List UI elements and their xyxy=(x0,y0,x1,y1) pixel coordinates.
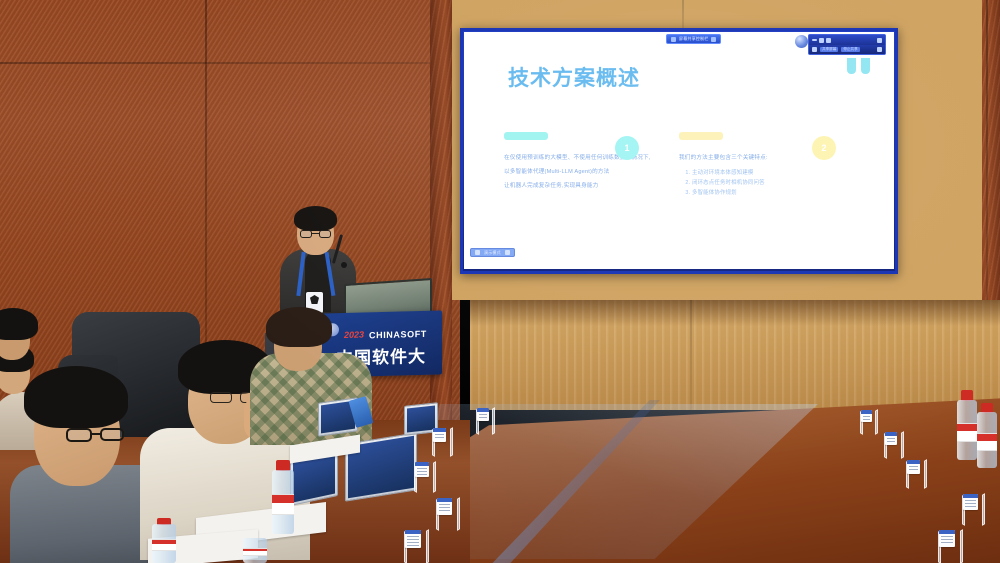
audience-person xyxy=(0,300,40,390)
stop-share-button[interactable]: 停止共享 xyxy=(841,47,859,52)
slide-badge-1: 1 xyxy=(615,136,639,160)
window-controls[interactable] xyxy=(812,38,831,43)
water-bottle xyxy=(243,538,267,563)
wall-shadow-band xyxy=(470,300,1000,326)
name-card-holder xyxy=(938,530,976,563)
quote-mark-decoration xyxy=(847,58,870,74)
glasses-icon xyxy=(66,428,124,442)
bottle-label xyxy=(243,548,267,556)
name-card-holder xyxy=(432,428,464,456)
slide-paragraph: 在仅使用预训练的大模型、不使用任何训练数据的情况下, xyxy=(504,154,679,163)
window-titlebar[interactable] xyxy=(809,35,885,45)
water-bottle xyxy=(957,400,977,460)
floating-window-bar[interactable]: 共享屏幕 停止共享 xyxy=(808,34,886,55)
share-screen-label: 共享屏幕 xyxy=(822,47,836,52)
restore-icon[interactable] xyxy=(826,38,831,43)
name-card-holder xyxy=(476,408,506,434)
badge-logo-icon xyxy=(310,295,319,304)
presentation-slide: 技术方案概述 在仅使用预训练的大模型、不使用任何训练数据的情况下, 以多智能体代… xyxy=(464,32,894,269)
column-tab-accent xyxy=(504,132,548,140)
person-hair xyxy=(266,307,332,347)
water-bottle xyxy=(152,524,176,563)
wall-seam xyxy=(0,62,460,64)
microphone-icon xyxy=(341,262,347,268)
slide-paragraph: 以多智能体代理(Multi-LLM Agent)的方法 xyxy=(504,168,679,177)
bottle-label xyxy=(152,539,176,551)
glasses-icon xyxy=(299,230,332,238)
slide-paragraph: 让机器人完成复杂任务,实现具身能力 xyxy=(504,182,679,191)
stop-share-label: 停止共享 xyxy=(843,47,857,52)
minimize-icon[interactable] xyxy=(812,39,817,41)
name-card-holder xyxy=(414,462,448,492)
list-item: 主动对环境本体感知建模 xyxy=(692,168,854,178)
window-toolbar-row[interactable]: 共享屏幕 停止共享 xyxy=(809,45,885,54)
volume-icon[interactable] xyxy=(877,47,882,52)
chip-icon xyxy=(475,250,480,255)
name-card-holder xyxy=(906,460,938,488)
share-screen-button[interactable]: 共享屏幕 xyxy=(820,47,838,52)
column-tab-accent xyxy=(679,132,723,140)
slide-numbered-list: 主动对环境本体感知建模 闭环态点任务时相机协同问答 多智能体协作规划 xyxy=(692,168,854,198)
presenter-hair xyxy=(294,206,337,231)
chip-label: 演示模式 xyxy=(484,250,501,256)
name-card-holder xyxy=(962,494,998,525)
close-icon[interactable] xyxy=(877,38,882,43)
app-logo-orb xyxy=(795,35,808,48)
presentation-mode-chip[interactable]: 演示模式 xyxy=(470,248,515,257)
wall-display: 技术方案概述 在仅使用预训练的大模型、不使用任何训练数据的情况下, 以多智能体代… xyxy=(460,28,898,274)
list-item: 闭环态点任务时相机协同问答 xyxy=(692,178,854,188)
screen-share-toolbar[interactable]: 屏幕共享控制栏 xyxy=(666,34,721,44)
bottle-label xyxy=(272,494,294,514)
wall-seam xyxy=(690,300,692,410)
screenshot-scene: 技术方案概述 在仅使用预训练的大模型、不使用任何训练数据的情况下, 以多智能体代… xyxy=(0,0,1000,563)
name-card-holder xyxy=(436,498,472,530)
name-card-holder xyxy=(860,410,888,434)
list-item: 多智能体协作规划 xyxy=(692,188,854,198)
name-card-holder xyxy=(884,432,914,458)
chip-caret-icon xyxy=(505,250,510,255)
laptop-screen xyxy=(407,406,435,433)
share-screen-icon xyxy=(671,37,676,42)
slide-badge-2: 2 xyxy=(812,136,836,160)
wall-seam xyxy=(986,0,988,300)
name-card-holder xyxy=(404,530,442,563)
slide-title: 技术方案概述 xyxy=(508,62,640,92)
water-bottle xyxy=(272,470,294,534)
bottle-label xyxy=(977,433,997,451)
water-bottle xyxy=(977,412,997,468)
maximize-icon[interactable] xyxy=(819,38,824,43)
mic-icon[interactable] xyxy=(812,47,817,52)
person-hair xyxy=(0,308,38,340)
slide-column-1: 在仅使用预训练的大模型、不使用任何训练数据的情况下, 以多智能体代理(Multi… xyxy=(504,132,679,197)
expand-icon[interactable] xyxy=(711,37,716,42)
bottle-label xyxy=(957,423,977,442)
share-toolbar-label: 屏幕共享控制栏 xyxy=(679,36,708,42)
